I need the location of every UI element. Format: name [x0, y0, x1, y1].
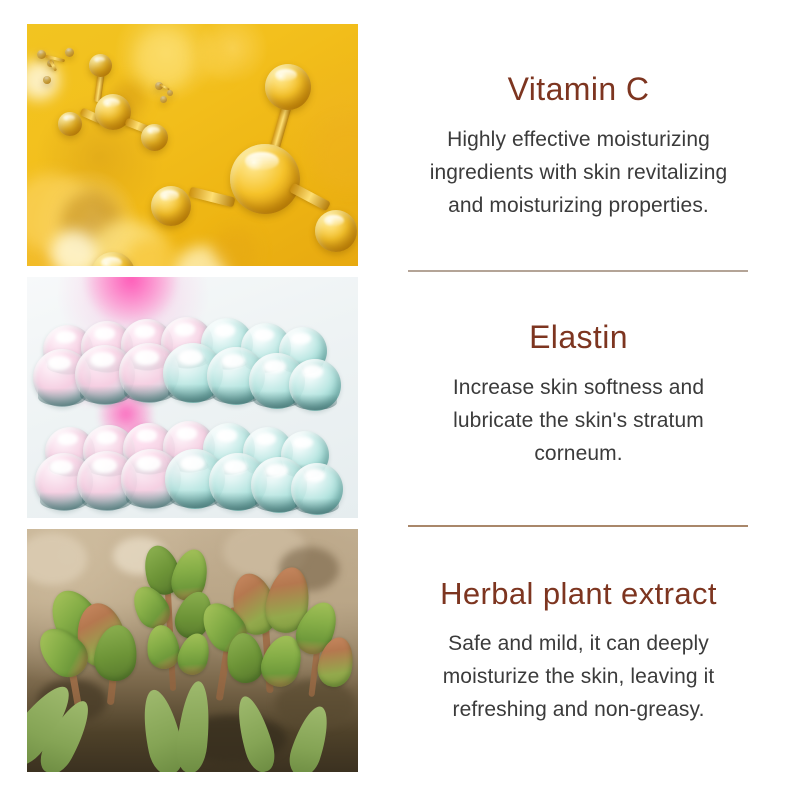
text-column-elastin: Elastin Increase skin softness and lubri… — [358, 277, 800, 518]
body-herbal-plant-extract: Safe and mild, it can deeply moisturize … — [423, 627, 735, 726]
yellow-oil-molecules-photo — [27, 24, 358, 266]
green-purslane-plants-photo — [27, 529, 358, 772]
infographic-page: Vitamin C Highly effective moisturizing … — [0, 0, 800, 800]
heading-herbal-plant-extract: Herbal plant extract — [440, 577, 717, 611]
section-herbal-plant-extract: Herbal plant extract Safe and mild, it c… — [0, 529, 800, 772]
text-column-herbal: Herbal plant extract Safe and mild, it c… — [358, 529, 800, 772]
teal-pink-bead-chains-photo — [27, 277, 358, 518]
image-elastin-wrapper — [27, 277, 358, 518]
image-herbal-wrapper — [27, 529, 358, 772]
divider-1 — [408, 270, 748, 272]
section-elastin: Elastin Increase skin softness and lubri… — [0, 277, 800, 518]
body-vitamin-c: Highly effective moisturizing ingredient… — [423, 123, 735, 222]
image-vitamin-c-wrapper — [27, 24, 358, 266]
divider-2 — [408, 525, 748, 527]
section-vitamin-c: Vitamin C Highly effective moisturizing … — [0, 24, 800, 266]
body-elastin: Increase skin softness and lubricate the… — [423, 371, 735, 470]
heading-vitamin-c: Vitamin C — [508, 72, 650, 107]
heading-elastin: Elastin — [529, 320, 628, 355]
text-column-vitamin-c: Vitamin C Highly effective moisturizing … — [358, 24, 800, 266]
